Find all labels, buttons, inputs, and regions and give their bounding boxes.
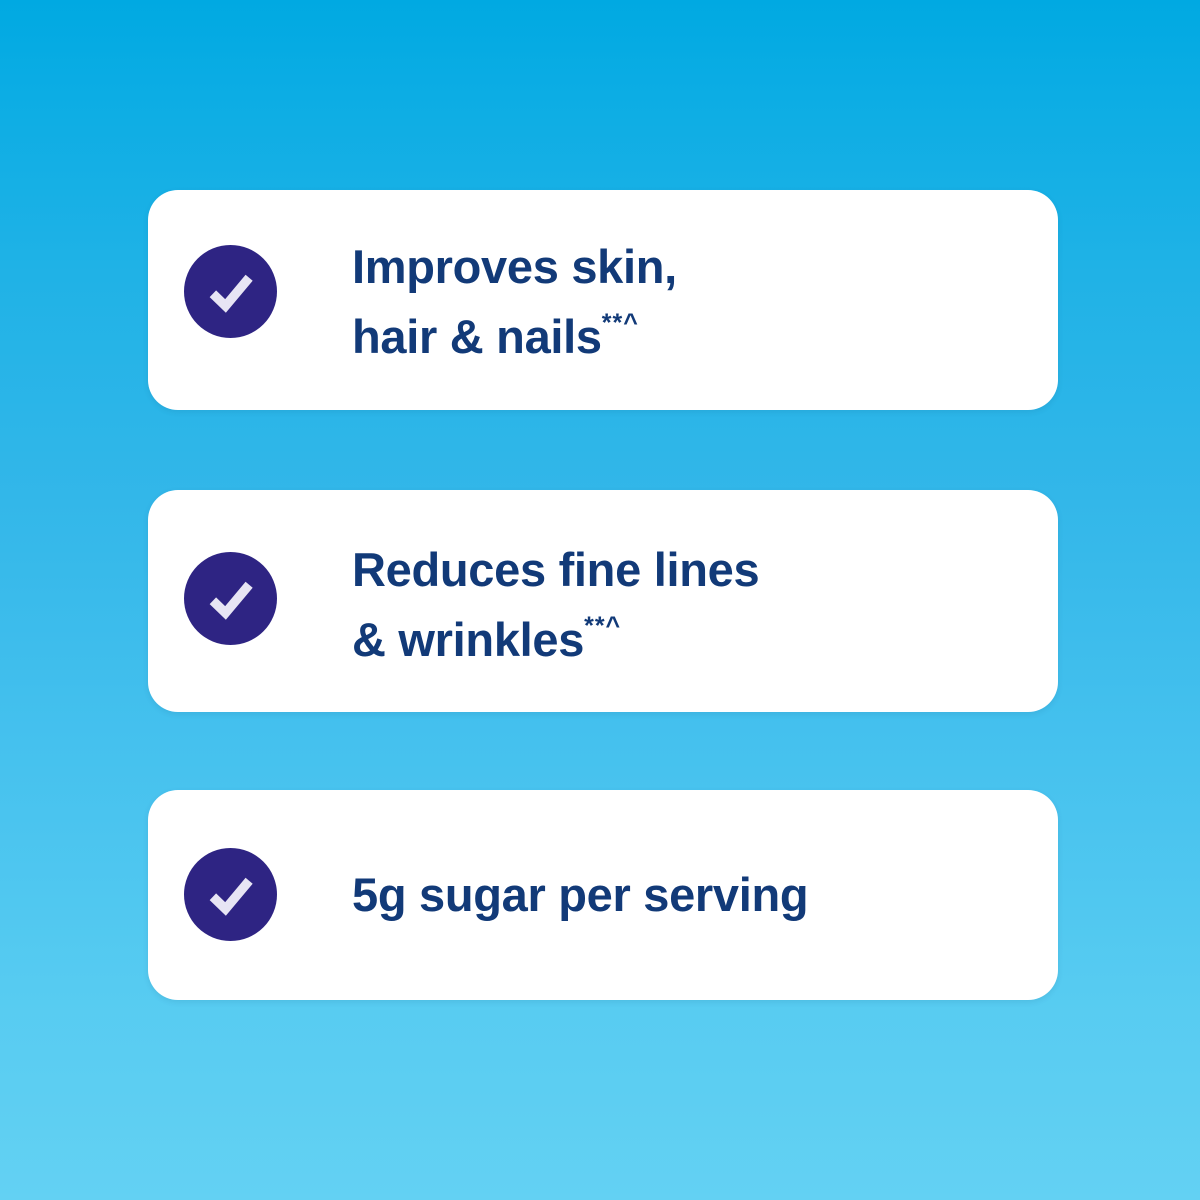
benefit-card-label: Reduces fine lines & wrinkles**^ bbox=[352, 535, 1034, 675]
benefit-footnote-marker: **^ bbox=[584, 612, 621, 640]
benefit-card-label: 5g sugar per serving bbox=[352, 860, 1034, 930]
benefit-card-improves-skin-hair-nails[interactable]: Improves skin, hair & nails**^ bbox=[148, 190, 1058, 410]
check-circle-icon bbox=[184, 552, 277, 645]
benefit-text-main: 5g sugar per serving bbox=[352, 868, 808, 921]
check-circle-icon bbox=[184, 245, 277, 338]
product-benefits-panel: Improves skin, hair & nails**^ Reduces f… bbox=[0, 0, 1200, 1200]
benefit-footnote-marker: **^ bbox=[602, 309, 639, 337]
benefit-card-sugar-per-serving[interactable]: 5g sugar per serving bbox=[148, 790, 1058, 1000]
benefit-card-reduces-fine-lines-wrinkles[interactable]: Reduces fine lines & wrinkles**^ bbox=[148, 490, 1058, 712]
benefit-card-label: Improves skin, hair & nails**^ bbox=[352, 232, 1034, 372]
check-circle-icon bbox=[184, 848, 277, 941]
benefit-text-main: Reduces fine lines & wrinkles bbox=[352, 543, 759, 666]
benefit-text-main: Improves skin, hair & nails bbox=[352, 240, 677, 363]
